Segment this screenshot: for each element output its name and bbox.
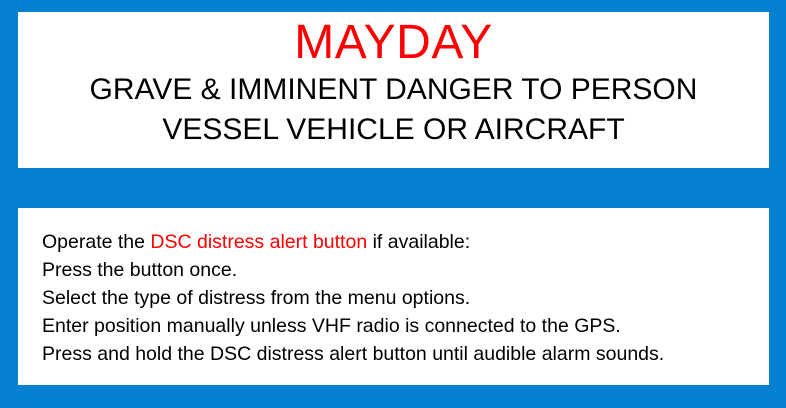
instruction-line-2: Press the button once. — [42, 256, 769, 284]
instructions-panel: Operate the DSC distress alert button if… — [18, 208, 769, 385]
instruction-line-1: Operate the DSC distress alert button if… — [42, 228, 769, 256]
title-panel: MAYDAY GRAVE & IMMINENT DANGER TO PERSON… — [18, 12, 769, 168]
instruction-line-3: Select the type of distress from the men… — [42, 284, 769, 312]
subtitle-line-1: GRAVE & IMMINENT DANGER TO PERSON — [90, 70, 698, 110]
subtitle-line-2: VESSEL VEHICLE OR AIRCRAFT — [162, 110, 624, 150]
instruction-line-4: Enter position manually unless VHF radio… — [42, 312, 769, 340]
instruction-line-1-suffix: if available: — [367, 231, 470, 253]
slide-root: MAYDAY GRAVE & IMMINENT DANGER TO PERSON… — [0, 0, 786, 408]
dsc-distress-alert-button-highlight: DSC distress alert button — [150, 231, 367, 253]
instruction-line-5: Press and hold the DSC distress alert bu… — [42, 340, 769, 368]
instruction-line-1-prefix: Operate the — [42, 231, 150, 253]
mayday-title: MAYDAY — [294, 16, 493, 70]
